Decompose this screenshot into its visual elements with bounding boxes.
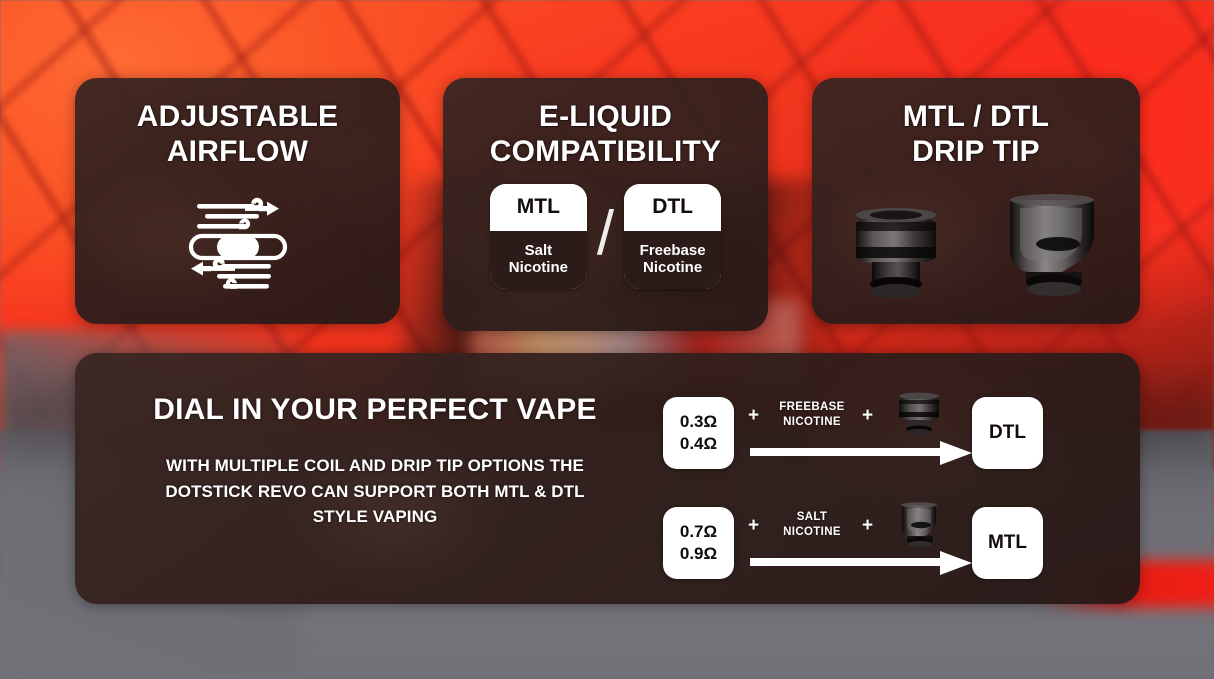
equation-dtl-nicotine-label: FREEBASE NICOTINE [760,400,864,429]
eliquid-option-mtl-detail: Salt Nicotine [490,231,587,289]
card-dial-in-your-perfect-vape: DIAL IN YOUR PERFECT VAPE WITH MULTIPLE … [75,353,1140,604]
equation-dtl-ohm-line1: 0.3Ω [680,411,717,433]
equation-mtl-plus-2: + [862,515,873,537]
eliquid-option-dtl: DTL Freebase Nicotine [624,184,721,289]
card-driptip-title: MTL / DTL DRIP TIP [812,100,1140,170]
equation-dtl-ohm-line2: 0.4Ω [680,433,717,455]
equation-mtl-arrow [750,551,972,575]
equation-mtl-ohm-line2: 0.9Ω [680,543,717,565]
eliquid-options-row: MTL Salt Nicotine / DTL Freebase Nicotin… [443,184,768,289]
eliquid-option-dtl-label: DTL [624,184,721,231]
drip-tip-flared-photo [996,188,1108,313]
dial-subtext: WITH MULTIPLE COIL AND DRIP TIP OPTIONS … [75,453,675,530]
eliquid-option-mtl: MTL Salt Nicotine [490,184,587,289]
equation-mtl-plus-1: + [748,515,759,537]
equation-mtl-result-box: MTL [972,507,1043,579]
equation-dtl-nicotine-line1: FREEBASE [760,400,864,415]
dial-heading: DIAL IN YOUR PERFECT VAPE [75,393,675,427]
eliquid-option-mtl-detail-line1: Salt [525,243,553,260]
airflow-slider-icon [183,190,293,290]
equation-dtl-result-box: DTL [972,397,1043,469]
eliquid-option-dtl-detail: Freebase Nicotine [624,231,721,289]
eliquid-option-dtl-detail-line1: Freebase [640,243,706,260]
card-airflow-title-line2: AIRFLOW [75,135,400,170]
dial-subtext-line2: DOTSTICK REVO CAN SUPPORT BOTH MTL & DTL [75,479,675,505]
dial-subtext-line3: STYLE VAPING [75,504,675,530]
equation-mtl-nicotine-line1: SALT [760,510,864,525]
dial-text-block: DIAL IN YOUR PERFECT VAPE WITH MULTIPLE … [75,393,675,530]
eliquid-option-mtl-label: MTL [490,184,587,231]
eliquid-option-mtl-detail-line2: Nicotine [509,260,568,277]
equation-dtl-plus-2: + [862,405,873,427]
card-airflow-title-line1: ADJUSTABLE [75,100,400,135]
drip-tip-flared-icon [892,501,952,547]
equation-dtl-resistance-box: 0.3Ω 0.4Ω [663,397,734,469]
card-adjustable-airflow: ADJUSTABLE AIRFLOW [75,78,400,324]
equation-mtl-ohm-line1: 0.7Ω [680,521,717,543]
equation-mtl-nicotine-label: SALT NICOTINE [760,510,864,539]
card-driptip-title-line1: MTL / DTL [812,100,1140,135]
equation-mtl-nicotine-line2: NICOTINE [760,525,864,540]
card-airflow-title: ADJUSTABLE AIRFLOW [75,100,400,170]
card-drip-tip: MTL / DTL DRIP TIP [812,78,1140,324]
drip-tip-round-photo [844,198,948,313]
equation-dtl-nicotine-line2: NICOTINE [760,415,864,430]
equation-row-mtl: 0.7Ω 0.9Ω + SALT NICOTINE + [663,507,1043,579]
equation-mtl-resistance-box: 0.7Ω 0.9Ω [663,507,734,579]
drip-tip-round-icon [892,391,952,437]
equation-dtl-arrow [750,441,972,465]
drip-tip-photos-row [812,188,1140,313]
equation-dtl-middle: + FREEBASE NICOTINE + [734,397,972,469]
equation-row-dtl: 0.3Ω 0.4Ω + FREEBASE NICOTINE + [663,397,1043,469]
card-eliquid-title-line1: E-LIQUID [443,100,768,135]
card-eliquid-title-line2: COMPATIBILITY [443,135,768,170]
dial-subtext-line1: WITH MULTIPLE COIL AND DRIP TIP OPTIONS … [75,453,675,479]
equation-dtl-plus-1: + [748,405,759,427]
card-eliquid-compatibility: E-LIQUID COMPATIBILITY MTL Salt Nicotine… [443,78,768,331]
eliquid-separator: / [597,203,614,265]
card-driptip-title-line2: DRIP TIP [812,135,1140,170]
equation-mtl-middle: + SALT NICOTINE + [734,507,972,579]
card-eliquid-title: E-LIQUID COMPATIBILITY [443,100,768,170]
eliquid-option-dtl-detail-line2: Nicotine [643,260,702,277]
